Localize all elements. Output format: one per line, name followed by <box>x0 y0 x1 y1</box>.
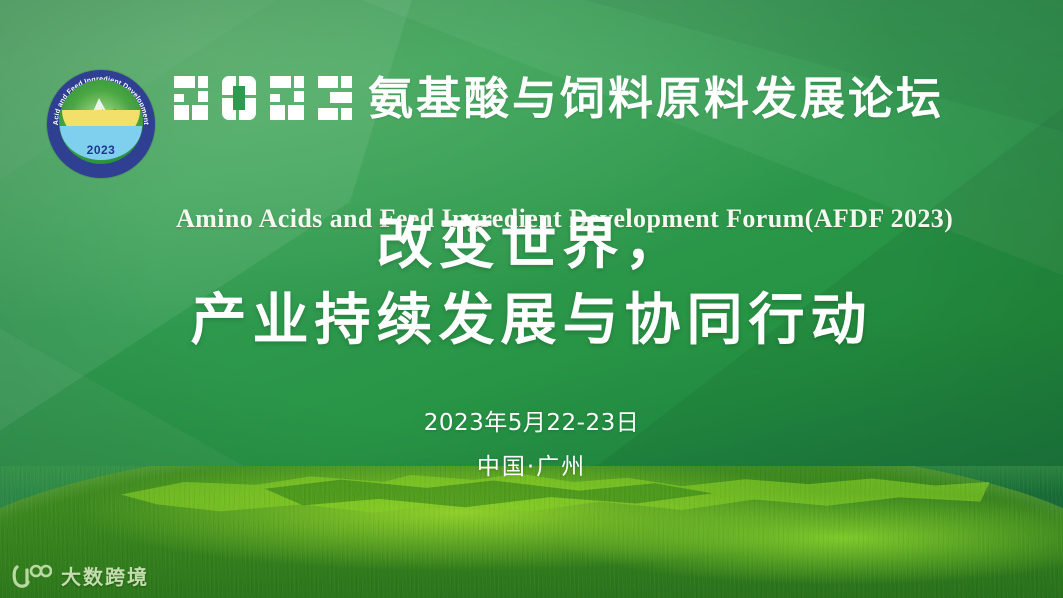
grass-hill <box>0 466 1063 598</box>
digit-0 <box>222 76 256 120</box>
digit-2-b <box>270 76 304 120</box>
digit-2-a <box>174 76 208 120</box>
event-date: 2023年5月22-23日 <box>0 406 1063 440</box>
watermark: 大数跨境 <box>12 561 149 590</box>
poster-header: Amino Acid and Feed Ingredient Developme… <box>0 62 1063 182</box>
title-row: 氨基酸与饲料原料发展论坛 <box>174 76 944 122</box>
poster-slogan: 改变世界， 产业持续发展与协同行动 <box>0 206 1063 358</box>
grass-texture <box>0 466 1063 598</box>
watermark-text: 大数跨境 <box>61 561 149 590</box>
grass-hill-scenery <box>0 466 1063 598</box>
conference-title-cn: 氨基酸与饲料原料发展论坛 <box>368 76 944 122</box>
stylized-year-2023 <box>174 76 352 122</box>
emblem-inner-disc: 2023 <box>59 80 143 164</box>
slogan-line-1: 改变世界， <box>0 206 1063 282</box>
afdf-emblem-logo: Amino Acid and Feed Ingredient Developme… <box>47 70 155 178</box>
slogan-line-2: 产业持续发展与协同行动 <box>0 282 1063 358</box>
conference-poster: Amino Acid and Feed Ingredient Developme… <box>0 0 1063 598</box>
event-location: 中国·广州 <box>0 450 1063 484</box>
emblem-year-label: 2023 <box>59 143 143 157</box>
poster-meta: 2023年5月22-23日 中国·广州 <box>0 406 1063 484</box>
ic100-logo-icon <box>12 563 52 589</box>
digit-3 <box>318 76 352 120</box>
